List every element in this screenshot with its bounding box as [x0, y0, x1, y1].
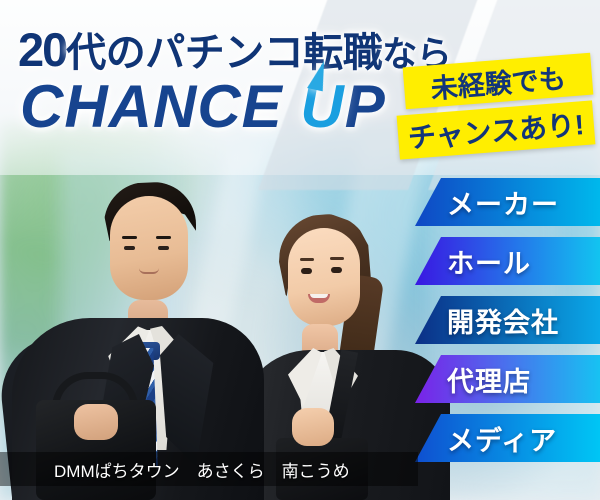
headline: 20代のパチンコ転職なら	[18, 20, 451, 78]
credit-strip: DMMぱちタウン あさくら 南こうめ	[0, 452, 418, 486]
man-hand	[74, 404, 118, 440]
category-bar-agency[interactable]: 代理店	[415, 355, 600, 403]
credit-text: DMMぱちタウン あさくら 南こうめ	[0, 457, 350, 482]
logo-chance-up: CHANCE U P	[20, 72, 386, 141]
man-eye	[158, 246, 169, 250]
man-face	[110, 196, 188, 300]
woman-brow	[330, 257, 344, 260]
category-bar-media[interactable]: メディア	[415, 414, 600, 462]
woman-teeth	[310, 294, 328, 298]
woman-eye	[331, 267, 342, 273]
logo-word-chance: CHANCE	[20, 73, 283, 140]
category-label: メーカー	[415, 183, 559, 222]
advertisement-banner[interactable]: 20代のパチンコ転職なら CHANCE U P 未経験でも チャンスあり! メー…	[0, 0, 600, 500]
category-bar-maker[interactable]: メーカー	[415, 178, 600, 226]
woman-brow	[300, 258, 314, 261]
woman-eye	[301, 268, 312, 274]
logo-letter-u: U	[300, 72, 344, 141]
category-bar-developer[interactable]: 開発会社	[415, 296, 600, 344]
woman-face	[288, 228, 360, 326]
category-label: ホール	[415, 242, 531, 281]
man-brow	[156, 236, 171, 239]
woman-hand	[292, 408, 334, 446]
category-label: 開発会社	[415, 301, 559, 340]
logo-letter-p: P	[345, 73, 386, 140]
headline-number: 20	[18, 23, 66, 76]
man-mouth	[139, 268, 159, 274]
man-eye	[124, 246, 135, 250]
man-brow	[122, 236, 137, 239]
category-bar-list: メーカー ホール 開発会社 代理店 メディア	[415, 178, 600, 473]
headline-main: 代のパチンコ転職	[66, 31, 382, 75]
category-label: 代理店	[415, 360, 531, 399]
category-label: メディア	[415, 419, 557, 458]
category-bar-hall[interactable]: ホール	[415, 237, 600, 285]
